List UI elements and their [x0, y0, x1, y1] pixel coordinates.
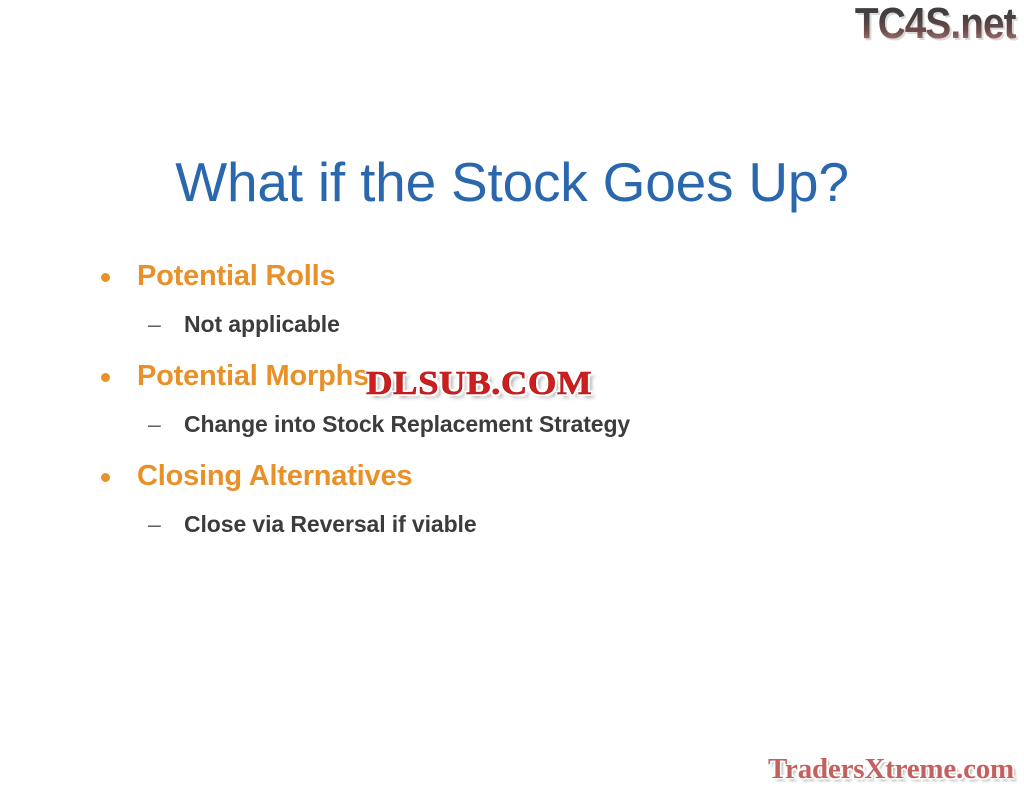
dash-icon: – — [148, 301, 161, 347]
bullet-level2-not-applicable: – Not applicable — [96, 301, 936, 347]
bullet-dot-icon — [101, 273, 110, 282]
bullet-level1-label: Closing Alternatives — [137, 460, 412, 492]
bullet-level2-stock-replacement: – Change into Stock Replacement Strategy — [96, 401, 936, 447]
page-title: What if the Stock Goes Up? — [0, 154, 1024, 212]
slide-canvas: TC4S.net TC4S.net What if the Stock Goes… — [0, 0, 1024, 791]
bullet-level1-label: Potential Rolls — [137, 260, 335, 292]
bullet-dot-icon — [101, 373, 110, 382]
site-logo: TC4S.net — [855, 2, 1016, 46]
footer-watermark: TradersXtreme.com — [768, 755, 1014, 784]
bullet-level2-close-via-reversal: – Close via Reversal if viable — [96, 501, 936, 547]
bullet-level2-label: Not applicable — [184, 311, 340, 337]
bullet-group-3: Closing Alternatives – Close via Reversa… — [96, 452, 936, 547]
bullet-level2-label: Change into Stock Replacement Strategy — [184, 411, 630, 437]
bullet-level1-closing-alternatives: Closing Alternatives — [96, 452, 936, 501]
bullet-level1-potential-rolls: Potential Rolls — [96, 252, 936, 301]
bullet-group-1: Potential Rolls – Not applicable — [96, 252, 936, 347]
dash-icon: – — [148, 501, 161, 547]
bullet-level2-label: Close via Reversal if viable — [184, 511, 477, 537]
bullet-level1-label: Potential Morphs — [137, 360, 369, 392]
bullet-dot-icon — [101, 473, 110, 482]
dash-icon: – — [148, 401, 161, 447]
overlay-watermark: DLSUB.COM — [366, 367, 592, 401]
